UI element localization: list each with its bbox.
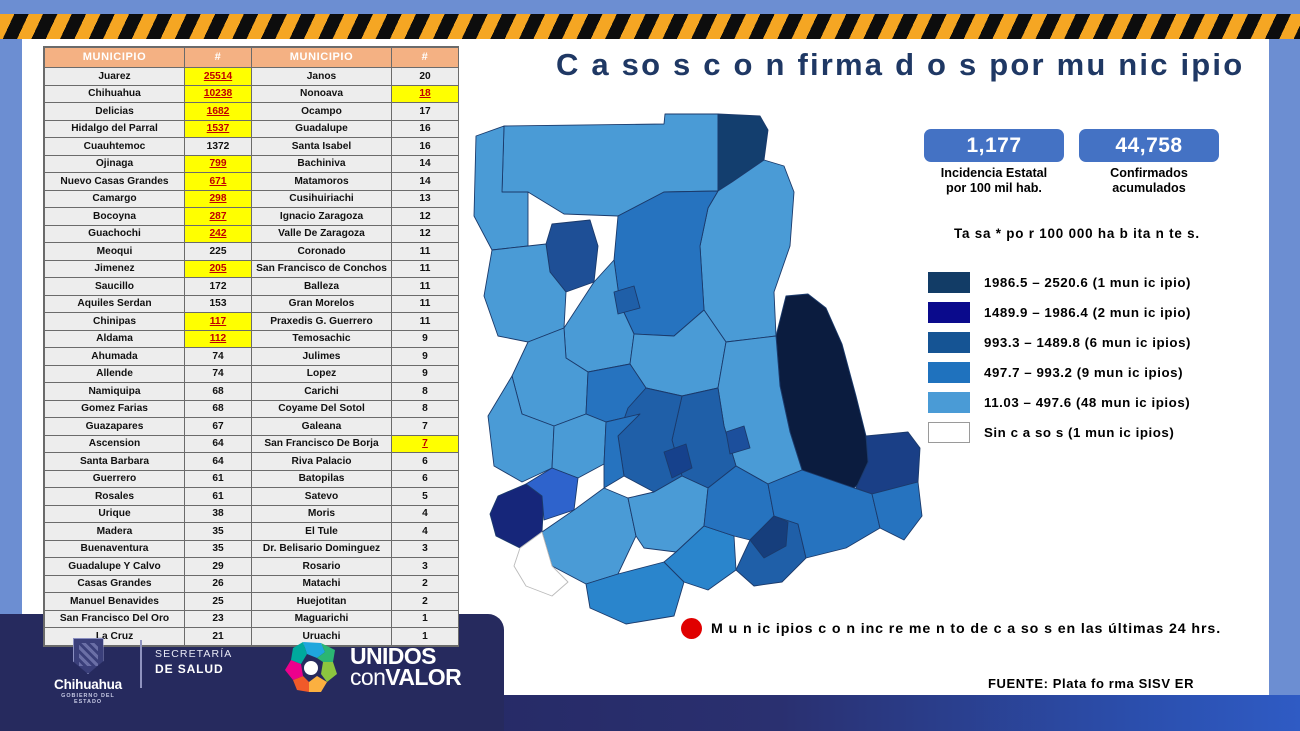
cell-count-left: 153: [185, 295, 252, 313]
table-row: Chinipas117Praxedis G. Guerrero11: [45, 313, 459, 331]
table-row: Santa Barbara64Riva Palacio6: [45, 453, 459, 471]
cell-count-left: 64: [185, 435, 252, 453]
cell-count-right: 7: [392, 418, 459, 436]
table-row: Rosales61Satevo5: [45, 488, 459, 506]
cell-count-left: 61: [185, 488, 252, 506]
cell-municipio-right: Bachiniva: [252, 155, 392, 173]
table-row: Meoqui225Coronado11: [45, 243, 459, 261]
cell-count-right: 9: [392, 330, 459, 348]
legend-label: 497.7 – 993.2 (9 mun ic ipios): [984, 365, 1183, 380]
cell-municipio-left: Guerrero: [45, 470, 185, 488]
table-row: Manuel Benavides25Huejotitan2: [45, 593, 459, 611]
shield-icon: [73, 638, 104, 674]
cell-municipio-right: Huejotitan: [252, 593, 392, 611]
cell-municipio-right: Galeana: [252, 418, 392, 436]
table-row: Guerrero61Batopilas6: [45, 470, 459, 488]
secretaria-line1: SECRETARÍA: [155, 648, 232, 660]
cell-count-right: 6: [392, 470, 459, 488]
legend-color-swatch: [928, 422, 970, 443]
cell-count-left: 799: [185, 155, 252, 173]
cell-municipio-right: Satevo: [252, 488, 392, 506]
cell-municipio-right: Maguarichi: [252, 610, 392, 628]
cell-count-right: 18: [392, 85, 459, 103]
cell-count-right: 13: [392, 190, 459, 208]
colored-state-map-icon: [281, 640, 341, 694]
table-row: Allende74Lopez9: [45, 365, 459, 383]
cell-municipio-left: Juarez: [45, 68, 185, 86]
cell-municipio-right: Ocampo: [252, 103, 392, 121]
cell-count-left: 29: [185, 558, 252, 576]
map-legend: Ta sa * po r 100 000 ha b ita n te s. 19…: [928, 226, 1248, 447]
cell-count-right: 12: [392, 225, 459, 243]
legend-color-swatch: [928, 392, 970, 413]
page-title: C a so s c o n firma d o s por mu nic ip…: [556, 47, 1256, 83]
cell-count-left: 61: [185, 470, 252, 488]
cell-count-right: 17: [392, 103, 459, 121]
cell-count-left: 671: [185, 173, 252, 191]
increment-note-text: M u n ic ipios c o n inc re me n to de c…: [711, 621, 1221, 637]
increment-note: M u n ic ipios c o n inc re me n to de c…: [681, 618, 1221, 639]
cell-municipio-left: Jimenez: [45, 260, 185, 278]
cell-count-right: 14: [392, 155, 459, 173]
table-row: Saucillo172Balleza11: [45, 278, 459, 296]
cell-count-right: 12: [392, 208, 459, 226]
cell-count-right: 4: [392, 523, 459, 541]
cell-municipio-left: Santa Barbara: [45, 453, 185, 471]
chihuahua-government-logo: Chihuahua GOBIERNO DEL ESTADO: [52, 638, 124, 705]
table-row: Camargo298Cusihuiriachi13: [45, 190, 459, 208]
table-row: Guadalupe Y Calvo29Rosario3: [45, 558, 459, 576]
cell-municipio-right: Batopilas: [252, 470, 392, 488]
cell-count-left: 117: [185, 313, 252, 331]
cell-municipio-right: Praxedis G. Guerrero: [252, 313, 392, 331]
cell-count-right: 20: [392, 68, 459, 86]
cell-municipio-left: Bocoyna: [45, 208, 185, 226]
footer-divider: [140, 640, 142, 688]
stat-confirmados-acumulados: 44,758 Confirmados acumulados: [1079, 129, 1219, 196]
table-row: Aldama112Temosachic9: [45, 330, 459, 348]
legend-color-swatch: [928, 332, 970, 353]
cell-municipio-left: Camargo: [45, 190, 185, 208]
cell-count-right: 2: [392, 593, 459, 611]
secretaria-line2: DE SALUD: [155, 662, 232, 676]
cell-count-left: 172: [185, 278, 252, 296]
cell-municipio-right: Matachi: [252, 575, 392, 593]
con-text: con: [350, 664, 385, 690]
table-row: Jimenez205San Francisco de Conchos11: [45, 260, 459, 278]
cell-count-left: 64: [185, 453, 252, 471]
cell-municipio-left: Cuauhtemoc: [45, 138, 185, 156]
cell-municipio-left: Nuevo Casas Grandes: [45, 173, 185, 191]
stat-caption-confirmados-line2: acumulados: [1079, 181, 1219, 196]
cell-count-right: 9: [392, 365, 459, 383]
legend-color-swatch: [928, 362, 970, 383]
cell-count-right: 11: [392, 260, 459, 278]
cell-municipio-left: Namiquipa: [45, 383, 185, 401]
table-row: Chihuahua10238Nonoava18: [45, 85, 459, 103]
table-row: Namiquipa68Carichi8: [45, 383, 459, 401]
cell-municipio-left: Meoqui: [45, 243, 185, 261]
cell-municipio-left: Gomez Farias: [45, 400, 185, 418]
cell-count-right: 5: [392, 488, 459, 506]
stat-value-incidencia: 1,177: [924, 129, 1064, 162]
table-row: Guachochi242Valle De Zaragoza12: [45, 225, 459, 243]
red-dot-icon: [681, 618, 702, 639]
cell-municipio-right: Ignacio Zaragoza: [252, 208, 392, 226]
cell-municipio-left: Madera: [45, 523, 185, 541]
legend-title: Ta sa * po r 100 000 ha b ita n te s.: [954, 226, 1248, 241]
cell-municipio-right: Valle De Zaragoza: [252, 225, 392, 243]
cell-count-right: 3: [392, 558, 459, 576]
cell-municipio-right: Guadalupe: [252, 120, 392, 138]
cell-municipio-right: Lopez: [252, 365, 392, 383]
table-row: Ascension64San Francisco De Borja7: [45, 435, 459, 453]
cell-count-right: 9: [392, 348, 459, 366]
cell-count-left: 26: [185, 575, 252, 593]
cell-municipio-right: Balleza: [252, 278, 392, 296]
cell-count-right: 11: [392, 295, 459, 313]
table-row: Madera35El Tule4: [45, 523, 459, 541]
table-row: Juarez25514Janos20: [45, 68, 459, 86]
cell-count-right: 1: [392, 610, 459, 628]
legend-label: 1986.5 – 2520.6 (1 mun ic ipio): [984, 275, 1191, 290]
cell-count-right: 8: [392, 383, 459, 401]
cell-municipio-left: Casas Grandes: [45, 575, 185, 593]
cell-municipio-right: El Tule: [252, 523, 392, 541]
cell-municipio-left: Aldama: [45, 330, 185, 348]
cell-municipio-right: San Francisco de Conchos: [252, 260, 392, 278]
cell-count-left: 298: [185, 190, 252, 208]
cell-municipio-right: Matamoros: [252, 173, 392, 191]
chihuahua-choropleth-map: [468, 96, 923, 626]
cell-count-right: 7: [392, 435, 459, 453]
legend-row: 497.7 – 993.2 (9 mun ic ipios): [928, 357, 1248, 387]
cell-count-left: 25: [185, 593, 252, 611]
legend-label: 11.03 – 497.6 (48 mun ic ipios): [984, 395, 1190, 410]
table-row: Urique38Moris4: [45, 505, 459, 523]
cell-count-right: 14: [392, 173, 459, 191]
table-row: Bocoyna287Ignacio Zaragoza12: [45, 208, 459, 226]
table-row: Ojinaga799Bachiniva14: [45, 155, 459, 173]
legend-color-swatch: [928, 272, 970, 293]
cell-count-right: 2: [392, 575, 459, 593]
cell-count-left: 225: [185, 243, 252, 261]
cell-count-left: 25514: [185, 68, 252, 86]
table-row: Hidalgo del Parral1537Guadalupe16: [45, 120, 459, 138]
cell-count-right: 11: [392, 278, 459, 296]
cell-municipio-left: Ahumada: [45, 348, 185, 366]
cell-count-left: 1682: [185, 103, 252, 121]
table-row: Guazapares67Galeana7: [45, 418, 459, 436]
stat-incidencia-estatal: 1,177 Incidencia Estatal por 100 mil hab…: [924, 129, 1064, 196]
cell-count-right: 8: [392, 400, 459, 418]
legend-color-swatch: [928, 302, 970, 323]
column-header-municipio-left: MUNICIPIO: [45, 48, 185, 68]
legend-label: Sin c a so s (1 mun ic ipios): [984, 425, 1174, 440]
legend-label: 1489.9 – 1986.4 (2 mun ic ipio): [984, 305, 1191, 320]
legend-row: 1986.5 – 2520.6 (1 mun ic ipio): [928, 267, 1248, 297]
cell-count-left: 68: [185, 400, 252, 418]
cell-municipio-right: Coyame Del Sotol: [252, 400, 392, 418]
table-row: Nuevo Casas Grandes671Matamoros14: [45, 173, 459, 191]
valor-text: VALOR: [385, 664, 461, 690]
cell-count-left: 1537: [185, 120, 252, 138]
cell-municipio-right: Temosachic: [252, 330, 392, 348]
cell-count-left: 287: [185, 208, 252, 226]
cell-count-right: 11: [392, 313, 459, 331]
cell-municipio-right: Cusihuiriachi: [252, 190, 392, 208]
cell-municipio-left: Rosales: [45, 488, 185, 506]
cell-municipio-right: Carichi: [252, 383, 392, 401]
cell-municipio-left: Delicias: [45, 103, 185, 121]
cell-municipio-right: San Francisco De Borja: [252, 435, 392, 453]
cell-municipio-right: Coronado: [252, 243, 392, 261]
secretaria-de-salud-logo: SECRETARÍA DE SALUD: [155, 648, 232, 676]
cell-count-left: 67: [185, 418, 252, 436]
cell-count-left: 35: [185, 523, 252, 541]
cell-municipio-left: Guazapares: [45, 418, 185, 436]
cell-count-left: 74: [185, 365, 252, 383]
cell-count-right: 3: [392, 540, 459, 558]
cell-municipio-right: Nonoava: [252, 85, 392, 103]
cell-count-left: 74: [185, 348, 252, 366]
cell-municipio-right: Gran Morelos: [252, 295, 392, 313]
cell-count-right: 16: [392, 120, 459, 138]
cell-count-left: 112: [185, 330, 252, 348]
cell-municipio-right: Moris: [252, 505, 392, 523]
hazard-stripe-band: [0, 14, 1300, 39]
cell-municipio-left: Ascension: [45, 435, 185, 453]
cell-municipio-right: Rosario: [252, 558, 392, 576]
cell-municipio-right: Dr. Belisario Dominguez: [252, 540, 392, 558]
cell-municipio-left: Buenaventura: [45, 540, 185, 558]
cell-municipio-left: Ojinaga: [45, 155, 185, 173]
legend-row: 1489.9 – 1986.4 (2 mun ic ipio): [928, 297, 1248, 327]
cell-municipio-right: Riva Palacio: [252, 453, 392, 471]
legend-row: 11.03 – 497.6 (48 mun ic ipios): [928, 387, 1248, 417]
legend-label: 993.3 – 1489.8 (6 mun ic ipios): [984, 335, 1191, 350]
legend-row: Sin c a so s (1 mun ic ipios): [928, 417, 1248, 447]
chihuahua-logo-name: Chihuahua: [52, 677, 124, 692]
legend-row: 993.3 – 1489.8 (6 mun ic ipios): [928, 327, 1248, 357]
cell-municipio-left: Guachochi: [45, 225, 185, 243]
cell-count-left: 68: [185, 383, 252, 401]
table-row: Ahumada74Julimes9: [45, 348, 459, 366]
table-row: Cuauhtemoc1372Santa Isabel16: [45, 138, 459, 156]
cell-municipio-left: Chinipas: [45, 313, 185, 331]
cell-count-left: 242: [185, 225, 252, 243]
cell-count-right: 16: [392, 138, 459, 156]
column-header-count-left: #: [185, 48, 252, 68]
cell-municipio-left: Saucillo: [45, 278, 185, 296]
chihuahua-logo-subtitle: GOBIERNO DEL ESTADO: [52, 693, 124, 705]
cell-municipio-right: Janos: [252, 68, 392, 86]
cell-count-left: 205: [185, 260, 252, 278]
cell-municipio-left: Allende: [45, 365, 185, 383]
table-header-row: MUNICIPIO # MUNICIPIO #: [45, 48, 459, 68]
source-text: FUENTE: Plata fo rma SISV ER: [988, 676, 1194, 691]
cell-municipio-left: Hidalgo del Parral: [45, 120, 185, 138]
cell-municipio-left: Urique: [45, 505, 185, 523]
cell-count-left: 10238: [185, 85, 252, 103]
stat-caption-incidencia-line1: Incidencia Estatal: [924, 166, 1064, 181]
stat-value-confirmados: 44,758: [1079, 129, 1219, 162]
cell-count-right: 11: [392, 243, 459, 261]
column-header-municipio-right: MUNICIPIO: [252, 48, 392, 68]
column-header-count-right: #: [392, 48, 459, 68]
cell-municipio-left: Chihuahua: [45, 85, 185, 103]
table-row: Buenaventura35Dr. Belisario Dominguez3: [45, 540, 459, 558]
cell-count-right: 6: [392, 453, 459, 471]
cell-count-left: 21: [185, 628, 252, 646]
table-row: Casas Grandes26Matachi2: [45, 575, 459, 593]
cell-municipio-right: Santa Isabel: [252, 138, 392, 156]
table-body: Juarez25514Janos20Chihuahua10238Nonoava1…: [45, 68, 459, 646]
cell-count-left: 38: [185, 505, 252, 523]
cell-municipio-right: Julimes: [252, 348, 392, 366]
cell-municipio-left: Manuel Benavides: [45, 593, 185, 611]
cell-count-left: 35: [185, 540, 252, 558]
table-row: San Francisco Del Oro23Maguarichi1: [45, 610, 459, 628]
cell-municipio-left: Guadalupe Y Calvo: [45, 558, 185, 576]
unidos-con-valor-logo: UNIDOS conVALOR: [281, 640, 461, 694]
stat-caption-incidencia-line2: por 100 mil hab.: [924, 181, 1064, 196]
cell-count-right: 4: [392, 505, 459, 523]
cell-municipio-left: San Francisco Del Oro: [45, 610, 185, 628]
legend-rows: 1986.5 – 2520.6 (1 mun ic ipio)1489.9 – …: [928, 267, 1248, 447]
municipios-cases-table: MUNICIPIO # MUNICIPIO # Juarez25514Janos…: [43, 46, 459, 647]
cell-count-left: 1372: [185, 138, 252, 156]
table-row: Delicias1682Ocampo17: [45, 103, 459, 121]
table-row: Gomez Farias68Coyame Del Sotol8: [45, 400, 459, 418]
stat-caption-confirmados-line1: Confirmados: [1079, 166, 1219, 181]
cell-municipio-left: Aquiles Serdan: [45, 295, 185, 313]
table-row: Aquiles Serdan153Gran Morelos11: [45, 295, 459, 313]
cell-count-left: 23: [185, 610, 252, 628]
